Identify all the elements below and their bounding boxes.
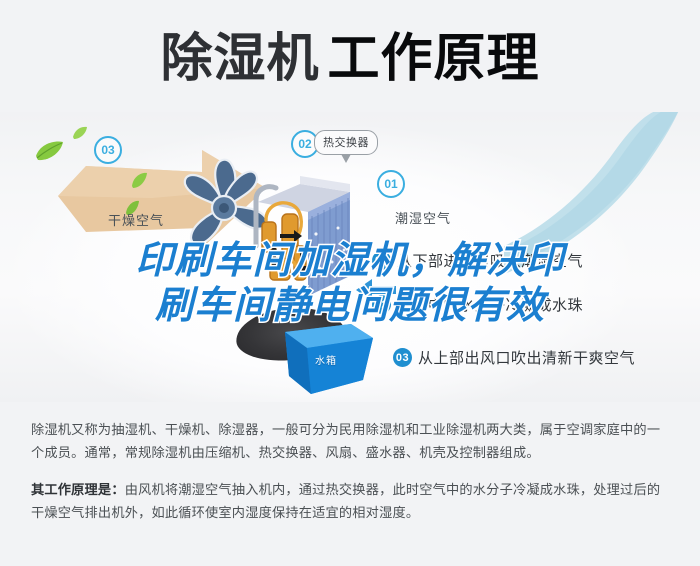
step-line-03: 03 从上部出风口吹出清新干爽空气 xyxy=(393,347,635,368)
step-number-01: 01 xyxy=(372,251,391,270)
badge-moist-air: 01 xyxy=(377,170,405,198)
dehumidifier-diagram: 水箱 03 02 01 热交换器 干燥空气 潮湿空气 01 从下部进风口吸入潮湿… xyxy=(0,112,700,402)
paragraph-2: 其工作原理是：由风机将潮湿空气抽入机内，通过热交换器，此时空气中的水分子冷凝成水… xyxy=(31,478,671,524)
step-line-01: 01 从下部进风口吸入潮湿空气 xyxy=(372,250,583,271)
infographic-page: 除湿机工作原理 xyxy=(0,0,700,566)
badge-dry-air: 03 xyxy=(94,136,122,164)
step-text-03: 从上部出风口吹出清新干爽空气 xyxy=(418,347,635,368)
paragraph-1: 除湿机又称为抽湿机、干燥机、除湿器，一般可分为民用除湿机和工业除湿机两大类，属于… xyxy=(31,418,671,464)
title-text: 除湿机工作原理 xyxy=(160,33,539,85)
step-number-02: 02 xyxy=(372,295,391,314)
step-text-02: 空气中的水分子冷凝成水珠 xyxy=(397,294,583,315)
paragraph-2-lead: 其工作原理是： xyxy=(31,482,125,497)
leaf-icon xyxy=(130,172,148,189)
callout-heat-exchanger: 热交换器 xyxy=(314,130,378,155)
title-part-b: 工作原理 xyxy=(328,30,540,88)
label-dry-air: 干燥空气 xyxy=(108,210,164,229)
leaf-icon xyxy=(72,126,88,140)
body-copy: 除湿机又称为抽湿机、干燥机、除湿器，一般可分为民用除湿机和工业除湿机两大类，属于… xyxy=(31,418,671,524)
label-moist-air: 潮湿空气 xyxy=(395,208,451,227)
leaf-icon xyxy=(34,140,64,162)
page-title: 除湿机工作原理 xyxy=(0,0,700,118)
step-number-03: 03 xyxy=(393,348,412,367)
step-line-02: 02 空气中的水分子冷凝成水珠 xyxy=(372,294,583,315)
title-part-a: 除湿机 xyxy=(160,30,319,88)
water-tank-label: 水箱 xyxy=(315,352,337,367)
paragraph-2-rest: 由风机将潮湿空气抽入机内，通过热交换器，此时空气中的水分子冷凝成水珠，处理过后的… xyxy=(31,482,660,520)
step-text-01: 从下部进风口吸入潮湿空气 xyxy=(397,250,583,271)
